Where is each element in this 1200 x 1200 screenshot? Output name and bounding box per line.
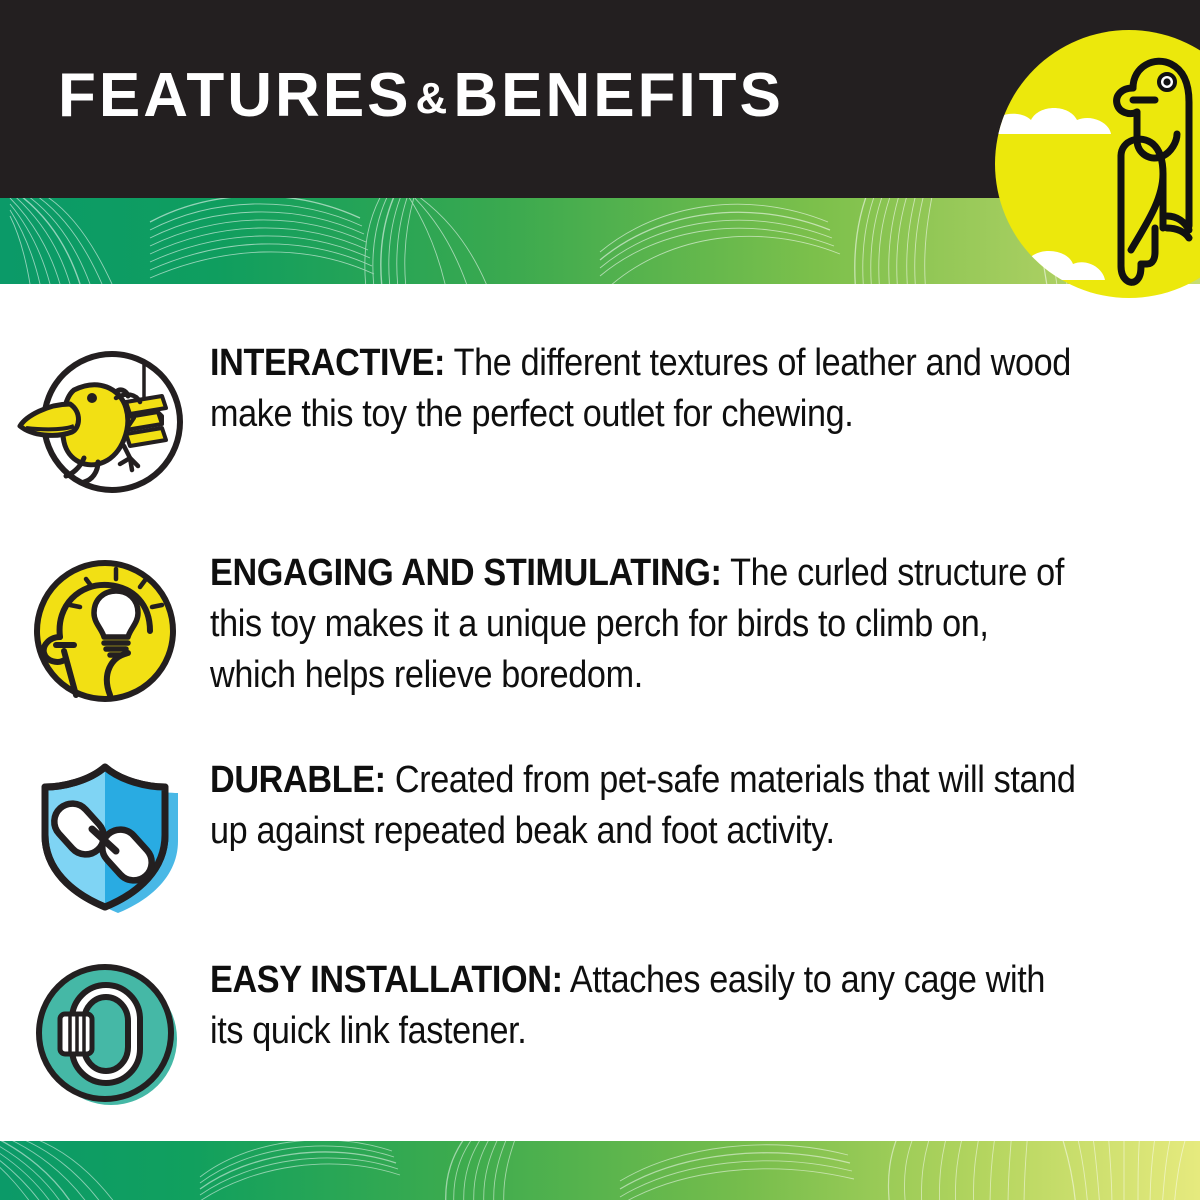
feature-icon-durable	[0, 755, 210, 917]
feature-icon-engaging	[0, 548, 210, 713]
parrot-badge-icon	[995, 30, 1200, 298]
bottom-palm-leaf-band	[0, 1141, 1200, 1200]
quick-link-fastener-icon	[12, 957, 198, 1117]
feature-title: EASY INSTALLATION	[210, 959, 552, 1001]
page-title-ampersand: &	[412, 74, 454, 123]
parrot-badge	[995, 30, 1200, 298]
feature-text: ENGAGING AND STIMULATING: The curled str…	[210, 548, 1101, 701]
palm-leaf-pattern-icon	[0, 1141, 1200, 1200]
feature-row: ENGAGING AND STIMULATING: The curled str…	[0, 548, 1200, 713]
feature-row: INTERACTIVE: The different textures of l…	[0, 338, 1200, 506]
page-title: FEATURES&BENEFITS	[58, 63, 784, 135]
shield-chain-link-icon	[12, 757, 198, 917]
feature-text: INTERACTIVE: The different textures of l…	[210, 338, 1101, 440]
feature-row: EASY INSTALLATION: Attaches easily to an…	[0, 955, 1200, 1117]
feature-icon-interactive	[0, 338, 210, 506]
page-title-word-1: FEATURES	[58, 61, 412, 130]
feature-text: EASY INSTALLATION: Attaches easily to an…	[210, 955, 1101, 1057]
bird-lightbulb-idea-icon	[12, 553, 198, 713]
page-title-word-2: BENEFITS	[453, 61, 784, 130]
bird-chewing-toy-icon	[12, 346, 198, 506]
feature-title: DURABLE	[210, 759, 375, 801]
feature-title: ENGAGING AND STIMULATING	[210, 552, 711, 594]
feature-row: DURABLE: Created from pet-safe materials…	[0, 755, 1200, 917]
feature-separator: :	[434, 342, 445, 384]
feature-separator: :	[711, 552, 722, 594]
feature-separator: :	[375, 759, 386, 801]
feature-title: INTERACTIVE	[210, 342, 434, 384]
feature-separator: :	[552, 959, 563, 1001]
features-benefits-infographic: FEATURES&BENEFITS	[0, 0, 1200, 1200]
feature-icon-easy-installation	[0, 955, 210, 1117]
feature-text: DURABLE: Created from pet-safe materials…	[210, 755, 1101, 857]
